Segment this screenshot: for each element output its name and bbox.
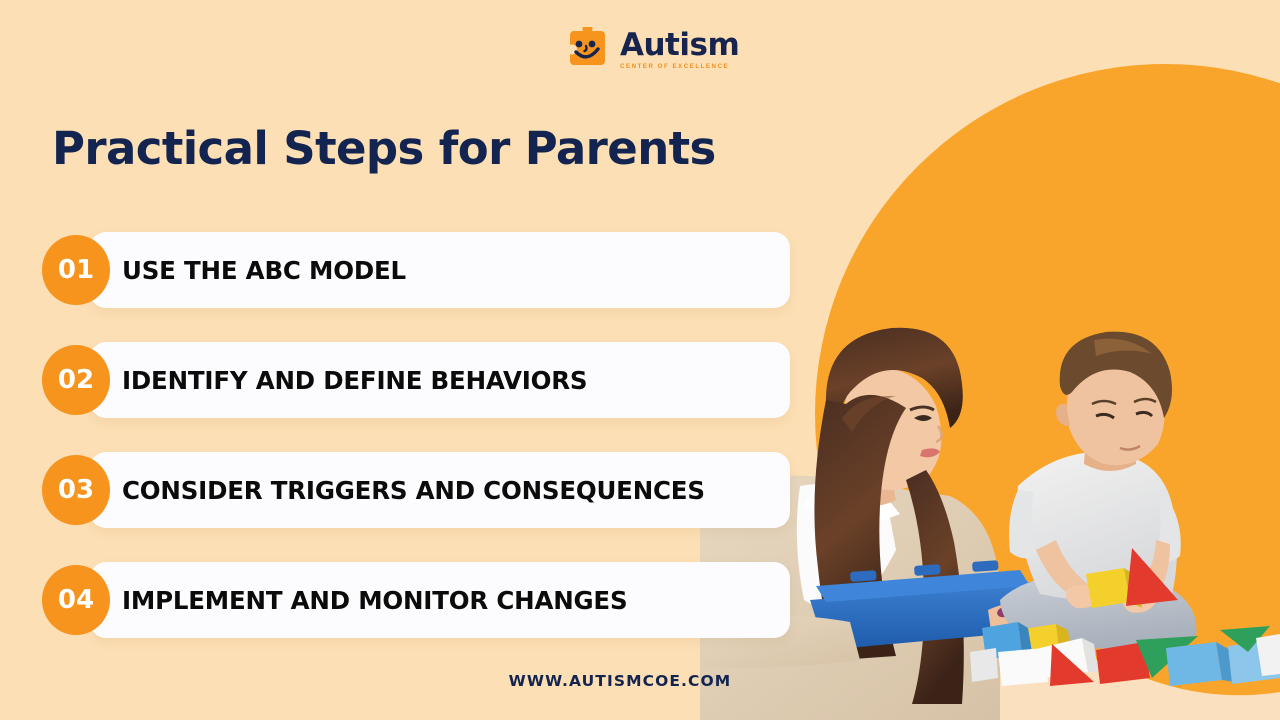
step-number-badge: 01	[42, 235, 110, 305]
brand-logo[interactable]: Autism CENTER OF EXCELLENCE	[560, 22, 730, 78]
logo-wordmark: Autism	[620, 30, 739, 61]
footer-website-url[interactable]: WWW.AUTISMCOE.COM	[0, 672, 1240, 690]
step-label: IMPLEMENT AND MONITOR CHANGES	[122, 562, 627, 638]
step-label: CONSIDER TRIGGERS AND CONSEQUENCES	[122, 452, 705, 528]
list-item[interactable]: 02 IDENTIFY AND DEFINE BEHAVIORS	[42, 342, 752, 418]
page-title: Practical Steps for Parents	[52, 122, 716, 175]
block-yellow-held	[1086, 568, 1130, 608]
slide-root: Autism CENTER OF EXCELLENCE Practical St…	[0, 0, 1280, 720]
steps-list: 01 USE THE ABC MODEL 02 IDENTIFY AND DEF…	[42, 232, 752, 672]
list-item[interactable]: 03 CONSIDER TRIGGERS AND CONSEQUENCES	[42, 452, 752, 528]
logo-tagline: CENTER OF EXCELLENCE	[620, 64, 739, 70]
list-item[interactable]: 01 USE THE ABC MODEL	[42, 232, 752, 308]
logo-text-block: Autism CENTER OF EXCELLENCE	[620, 30, 739, 70]
step-number-badge: 02	[42, 345, 110, 415]
list-item[interactable]: 04 IMPLEMENT AND MONITOR CHANGES	[42, 562, 752, 638]
autism-puzzle-smiley-logo-icon	[560, 27, 612, 73]
step-label: IDENTIFY AND DEFINE BEHAVIORS	[122, 342, 587, 418]
step-number-badge: 04	[42, 565, 110, 635]
step-label: USE THE ABC MODEL	[122, 232, 406, 308]
step-number-badge: 03	[42, 455, 110, 525]
